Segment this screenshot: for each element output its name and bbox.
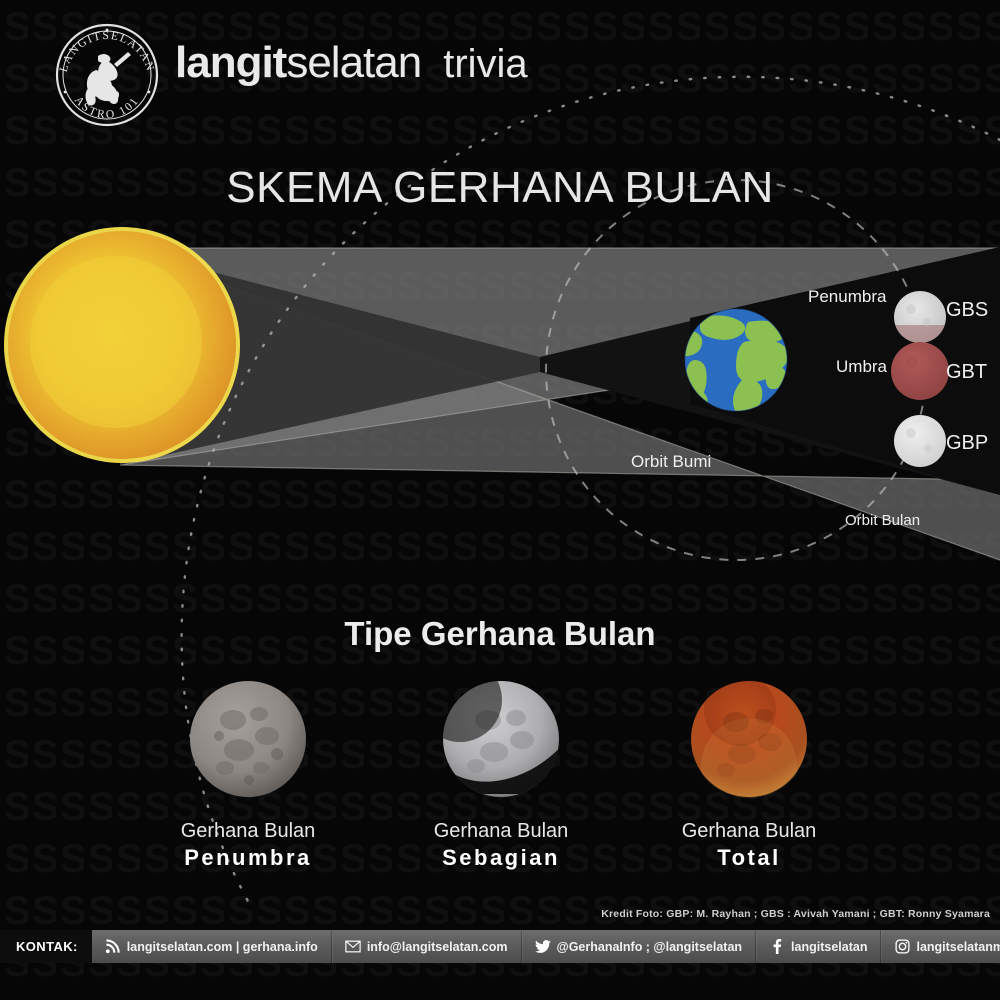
orbit-bumi-label: Orbit Bumi xyxy=(631,452,711,472)
moon-gbt-marker xyxy=(891,342,949,400)
umbra-label: Umbra xyxy=(836,357,887,377)
moon-type-caption-top: Gerhana Bulan xyxy=(634,820,864,843)
photo-credit: Kredit Foto: GBP: M. Rayhan ; GBS : Aviv… xyxy=(0,908,990,920)
gbs-label: GBS xyxy=(946,299,988,322)
twitter-icon xyxy=(535,939,551,955)
rss-icon xyxy=(105,939,121,955)
penumbra-label: Penumbra xyxy=(808,287,886,307)
moon-type-caption-bottom: Total xyxy=(634,845,864,871)
moon-type-caption-bottom: Penumbra xyxy=(133,845,363,871)
footer-item-text: langitselatan xyxy=(791,940,867,954)
moon-photo-penumbra xyxy=(189,680,307,798)
kontak-label: KONTAK: xyxy=(0,930,92,963)
footer-item-website[interactable]: langitselatan.com | gerhana.info xyxy=(92,930,332,963)
moon-type-caption-top: Gerhana Bulan xyxy=(133,820,363,843)
moon-type-penumbra: Gerhana Bulan Penumbra xyxy=(133,680,363,871)
moon-type-sebagian: Gerhana Bulan Sebagian xyxy=(386,680,616,871)
facebook-icon xyxy=(769,939,785,955)
footer-item-text: langitselatan.com | gerhana.info xyxy=(127,940,318,954)
sun xyxy=(4,227,240,463)
footer-item-text: langitselatanmedia xyxy=(916,940,1000,954)
brand-selatan: selatan xyxy=(286,38,421,88)
page-title: SKEMA GERHANA BULAN xyxy=(0,163,1000,213)
moon-type-caption-bottom: Sebagian xyxy=(386,845,616,871)
instagram-icon xyxy=(894,939,910,955)
types-section-title: Tipe Gerhana Bulan xyxy=(0,615,1000,653)
moon-gbp-marker xyxy=(894,415,946,467)
moon-photo-sebagian xyxy=(442,680,560,798)
orbit-bulan-label: Orbit Bulan xyxy=(845,512,920,529)
langitselatan-logo: LANGITSELATAN ASTRO 101 xyxy=(52,20,162,130)
footer-item-text: info@langitselatan.com xyxy=(367,940,508,954)
footer-item-facebook[interactable]: langitselatan xyxy=(756,930,881,963)
centaur-figure xyxy=(86,52,132,105)
gbt-label: GBT xyxy=(946,361,987,384)
brand-trivia: trivia xyxy=(443,42,527,87)
footer-item-instagram[interactable]: langitselatanmedia xyxy=(881,930,1000,963)
brand-langit: langit xyxy=(175,38,286,88)
moon-type-total: Gerhana Bulan Total xyxy=(634,680,864,871)
envelope-icon xyxy=(345,939,361,955)
moon-types-row: Gerhana Bulan Penumbra xyxy=(0,680,1000,910)
gbp-label: GBP xyxy=(946,432,988,455)
footer-item-text: @GerhanaInfo ; @langitselatan xyxy=(557,940,743,954)
footer-item-twitter[interactable]: @GerhanaInfo ; @langitselatan xyxy=(522,930,757,963)
infographic-page: S xyxy=(0,0,1000,1000)
footer-item-email[interactable]: info@langitselatan.com xyxy=(332,930,522,963)
moon-type-caption-top: Gerhana Bulan xyxy=(386,820,616,843)
brand-wordmark: langitselatantrivia xyxy=(175,38,528,100)
contact-footer: KONTAK: langitselatan.com | gerhana.info… xyxy=(0,930,1000,963)
moon-photo-total xyxy=(690,680,808,798)
